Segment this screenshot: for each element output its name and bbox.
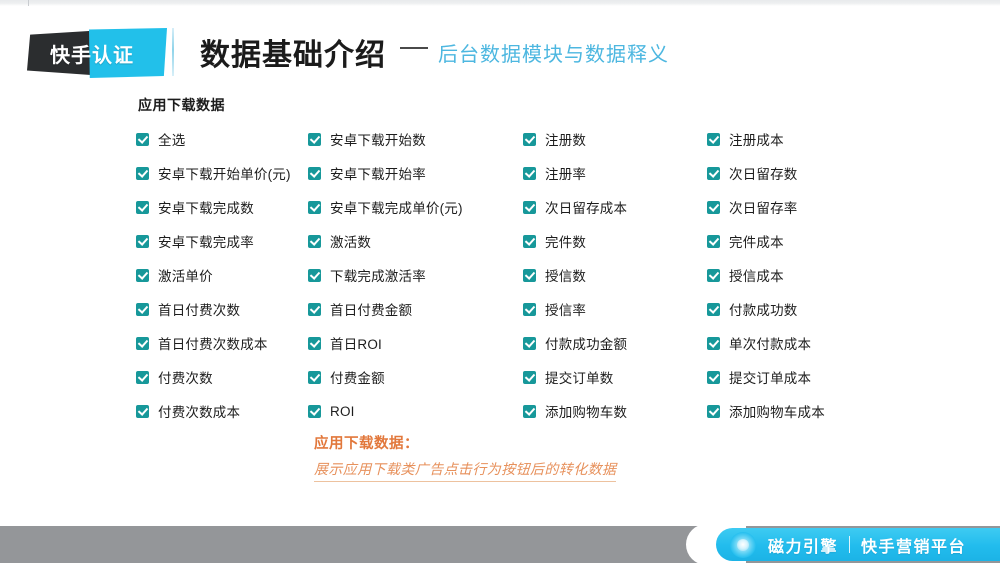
metric-checkbox-label: 付款成功金额 bbox=[545, 333, 627, 353]
checkbox-checked-icon[interactable] bbox=[308, 201, 321, 214]
metric-checkbox-row[interactable]: 付款成功金额 bbox=[523, 334, 703, 352]
metric-checkbox-label: 安卓下载完成率 bbox=[158, 231, 254, 251]
logo-text: 快手认证 bbox=[27, 28, 161, 78]
checkbox-checked-icon[interactable] bbox=[308, 133, 321, 146]
metric-checkbox-label: 全选 bbox=[158, 129, 185, 149]
kuaishou-certification-logo: 快手认证 bbox=[27, 28, 161, 78]
metric-column-2: 安卓下载开始数安卓下载开始率安卓下载完成单价(元)激活数下载完成激活率首日付费金… bbox=[308, 96, 508, 436]
checkbox-checked-icon[interactable] bbox=[136, 405, 149, 418]
metric-checkbox-label: 完件成本 bbox=[729, 231, 784, 251]
ripple-logo-icon bbox=[730, 532, 756, 558]
metric-checkbox-label: 首日ROI bbox=[330, 333, 382, 353]
metric-checkbox-row[interactable]: 授信数 bbox=[523, 266, 703, 284]
footer-brand-text: 磁力引擎 快手营销平台 bbox=[768, 533, 966, 557]
footer-platform-name: 快手营销平台 bbox=[861, 533, 966, 557]
footer-brand-pill: 磁力引擎 快手营销平台 bbox=[716, 528, 1000, 561]
metric-checkbox-label: 注册数 bbox=[545, 129, 586, 149]
checkbox-checked-icon[interactable] bbox=[523, 303, 536, 316]
metric-checkbox-row[interactable]: 注册数 bbox=[523, 130, 703, 148]
metric-column-3: 注册数注册率次日留存成本完件数授信数授信率付款成功金额提交订单数添加购物车数 bbox=[523, 96, 703, 436]
metric-checkbox-label: 添加购物车数 bbox=[545, 401, 627, 421]
checkbox-checked-icon[interactable] bbox=[707, 405, 720, 418]
metric-checkbox-row[interactable]: 安卓下载开始单价(元) bbox=[136, 164, 316, 182]
metric-checkbox-label: 安卓下载完成单价(元) bbox=[330, 197, 463, 217]
checkbox-checked-icon[interactable] bbox=[136, 167, 149, 180]
checkbox-checked-icon[interactable] bbox=[523, 405, 536, 418]
metric-checkbox-row[interactable]: 安卓下载完成数 bbox=[136, 198, 316, 216]
top-edge-strip bbox=[0, 0, 1000, 6]
metric-checkbox-label: 首日付费金额 bbox=[330, 299, 412, 319]
metric-checkbox-row[interactable]: 首日付费次数成本 bbox=[136, 334, 316, 352]
metric-checkbox-row[interactable]: 提交订单数 bbox=[523, 368, 703, 386]
metric-checkbox-row[interactable]: 激活单价 bbox=[136, 266, 316, 284]
metric-checkbox-row[interactable]: 激活数 bbox=[308, 232, 508, 250]
checkbox-checked-icon[interactable] bbox=[136, 303, 149, 316]
metric-checkbox-row[interactable]: 次日留存成本 bbox=[523, 198, 703, 216]
metric-checkbox-grid: 应用下载数据 全选安卓下载开始单价(元)安卓下载完成数安卓下载完成率激活单价首日… bbox=[0, 96, 1000, 416]
metric-checkbox-label: 完件数 bbox=[545, 231, 586, 251]
checkbox-checked-icon[interactable] bbox=[308, 405, 321, 418]
checkbox-checked-icon[interactable] bbox=[308, 269, 321, 282]
metric-checkbox-row[interactable]: 添加购物车成本 bbox=[707, 402, 907, 420]
metric-checkbox-row[interactable]: 注册率 bbox=[523, 164, 703, 182]
checkbox-checked-icon[interactable] bbox=[523, 269, 536, 282]
metric-checkbox-label: 次日留存率 bbox=[729, 197, 798, 217]
metric-checkbox-label: 授信率 bbox=[545, 299, 586, 319]
metric-checkbox-label: 提交订单数 bbox=[545, 367, 614, 387]
note-body: 展示应用下载类广告点击行为按钮后的转化数据 bbox=[314, 459, 616, 482]
metric-checkbox-row[interactable]: 授信率 bbox=[523, 300, 703, 318]
metric-checkbox-row[interactable]: 下载完成激活率 bbox=[308, 266, 508, 284]
metric-checkbox-label: ROI bbox=[330, 404, 355, 419]
metric-checkbox-label: 付费次数 bbox=[158, 367, 213, 387]
checkbox-checked-icon[interactable] bbox=[308, 235, 321, 248]
slide-header: 快手认证 数据基础介绍 后台数据模块与数据释义 bbox=[0, 22, 1000, 84]
metric-column-4: 注册成本次日留存数次日留存率完件成本授信成本付款成功数单次付款成本提交订单成本添… bbox=[707, 96, 907, 436]
column-3-items: 注册数注册率次日留存成本完件数授信数授信率付款成功金额提交订单数添加购物车数 bbox=[523, 130, 703, 420]
metric-checkbox-label: 提交订单成本 bbox=[729, 367, 811, 387]
column-4-items: 注册成本次日留存数次日留存率完件成本授信成本付款成功数单次付款成本提交订单成本添… bbox=[707, 130, 907, 420]
metric-checkbox-label: 激活单价 bbox=[158, 265, 213, 285]
checkbox-checked-icon[interactable] bbox=[707, 235, 720, 248]
page-title: 数据基础介绍 后台数据模块与数据释义 bbox=[200, 26, 669, 78]
metric-checkbox-label: 添加购物车成本 bbox=[729, 401, 825, 421]
checkbox-checked-icon[interactable] bbox=[523, 371, 536, 384]
metric-checkbox-label: 注册率 bbox=[545, 163, 586, 183]
checkbox-checked-icon[interactable] bbox=[136, 337, 149, 350]
metric-checkbox-label: 付费金额 bbox=[330, 367, 385, 387]
checkbox-checked-icon[interactable] bbox=[707, 133, 720, 146]
checkbox-checked-icon[interactable] bbox=[707, 201, 720, 214]
metric-checkbox-row[interactable]: 添加购物车数 bbox=[523, 402, 703, 420]
note-title: 应用下载数据： bbox=[314, 432, 814, 453]
metric-checkbox-label: 安卓下载开始率 bbox=[330, 163, 426, 183]
metric-checkbox-row[interactable]: 次日留存数 bbox=[707, 164, 907, 182]
metric-checkbox-label: 安卓下载开始单价(元) bbox=[158, 163, 291, 183]
metric-checkbox-label: 首日付费次数成本 bbox=[158, 333, 268, 353]
checkbox-checked-icon[interactable] bbox=[136, 235, 149, 248]
metric-checkbox-row[interactable]: 付费次数 bbox=[136, 368, 316, 386]
metric-checkbox-row[interactable]: 单次付款成本 bbox=[707, 334, 907, 352]
metric-checkbox-row[interactable]: 安卓下载完成单价(元) bbox=[308, 198, 508, 216]
metric-checkbox-label: 安卓下载开始数 bbox=[330, 129, 426, 149]
metric-column-1: 应用下载数据 全选安卓下载开始单价(元)安卓下载完成数安卓下载完成率激活单价首日… bbox=[136, 96, 316, 436]
metric-checkbox-row[interactable]: ROI bbox=[308, 402, 508, 420]
metric-checkbox-row[interactable]: 完件数 bbox=[523, 232, 703, 250]
metric-checkbox-label: 激活数 bbox=[330, 231, 371, 251]
footer-brand-name: 磁力引擎 bbox=[768, 533, 838, 557]
checkbox-checked-icon[interactable] bbox=[308, 167, 321, 180]
metric-checkbox-row[interactable]: 完件成本 bbox=[707, 232, 907, 250]
title-dash-icon bbox=[400, 47, 428, 49]
checkbox-checked-icon[interactable] bbox=[523, 167, 536, 180]
metric-checkbox-label: 次日留存成本 bbox=[545, 197, 627, 217]
checkbox-checked-icon[interactable] bbox=[136, 201, 149, 214]
metric-checkbox-row[interactable]: 全选 bbox=[136, 130, 316, 148]
metric-checkbox-row[interactable]: 首日付费金额 bbox=[308, 300, 508, 318]
checkbox-checked-icon[interactable] bbox=[707, 167, 720, 180]
checkbox-checked-icon[interactable] bbox=[136, 371, 149, 384]
checkbox-checked-icon[interactable] bbox=[523, 201, 536, 214]
footer-separator-icon bbox=[849, 536, 850, 553]
metric-checkbox-label: 授信数 bbox=[545, 265, 586, 285]
page-title-subtitle: 后台数据模块与数据释义 bbox=[438, 38, 669, 67]
checkbox-checked-icon[interactable] bbox=[707, 269, 720, 282]
metric-checkbox-label: 付款成功数 bbox=[729, 299, 798, 319]
metric-checkbox-row[interactable]: 付费次数成本 bbox=[136, 402, 316, 420]
checkbox-checked-icon[interactable] bbox=[707, 371, 720, 384]
metric-checkbox-row[interactable]: 安卓下载完成率 bbox=[136, 232, 316, 250]
column-2-items: 安卓下载开始数安卓下载开始率安卓下载完成单价(元)激活数下载完成激活率首日付费金… bbox=[308, 130, 508, 420]
checkbox-checked-icon[interactable] bbox=[523, 337, 536, 350]
checkbox-checked-icon[interactable] bbox=[707, 303, 720, 316]
metric-checkbox-label: 注册成本 bbox=[729, 129, 784, 149]
checkbox-checked-icon[interactable] bbox=[308, 303, 321, 316]
checkbox-checked-icon[interactable] bbox=[308, 371, 321, 384]
metric-checkbox-label: 安卓下载完成数 bbox=[158, 197, 254, 217]
metric-checkbox-row[interactable]: 付款成功数 bbox=[707, 300, 907, 318]
checkbox-checked-icon[interactable] bbox=[308, 337, 321, 350]
metric-checkbox-row[interactable]: 付费金额 bbox=[308, 368, 508, 386]
column-1-items: 全选安卓下载开始单价(元)安卓下载完成数安卓下载完成率激活单价首日付费次数首日付… bbox=[136, 130, 316, 420]
checkbox-checked-icon[interactable] bbox=[523, 133, 536, 146]
metric-checkbox-row[interactable]: 首日ROI bbox=[308, 334, 508, 352]
metric-checkbox-row[interactable]: 提交订单成本 bbox=[707, 368, 907, 386]
checkbox-checked-icon[interactable] bbox=[523, 235, 536, 248]
explanation-note: 应用下载数据： 展示应用下载类广告点击行为按钮后的转化数据 bbox=[314, 432, 814, 482]
metric-checkbox-label: 单次付款成本 bbox=[729, 333, 811, 353]
checkbox-checked-icon[interactable] bbox=[136, 133, 149, 146]
metric-checkbox-label: 首日付费次数 bbox=[158, 299, 240, 319]
column-heading-app-download: 应用下载数据 bbox=[138, 96, 316, 114]
metric-checkbox-row[interactable]: 次日留存率 bbox=[707, 198, 907, 216]
metric-checkbox-label: 次日留存数 bbox=[729, 163, 798, 183]
header-divider bbox=[172, 28, 174, 76]
slide-root: 快手认证 数据基础介绍 后台数据模块与数据释义 应用下载数据 全选安卓下载开始单… bbox=[0, 0, 1000, 563]
metric-checkbox-row[interactable]: 首日付费次数 bbox=[136, 300, 316, 318]
metric-checkbox-row[interactable]: 授信成本 bbox=[707, 266, 907, 284]
metric-checkbox-label: 授信成本 bbox=[729, 265, 784, 285]
page-title-main: 数据基础介绍 bbox=[200, 30, 386, 74]
metric-checkbox-row[interactable]: 注册成本 bbox=[707, 130, 907, 148]
checkbox-checked-icon[interactable] bbox=[707, 337, 720, 350]
metric-checkbox-label: 下载完成激活率 bbox=[330, 265, 426, 285]
metric-checkbox-row[interactable]: 安卓下载开始数 bbox=[308, 130, 508, 148]
slide-footer: 磁力引擎 快手营销平台 bbox=[0, 526, 1000, 563]
checkbox-checked-icon[interactable] bbox=[136, 269, 149, 282]
metric-checkbox-label: 付费次数成本 bbox=[158, 401, 240, 421]
metric-checkbox-row[interactable]: 安卓下载开始率 bbox=[308, 164, 508, 182]
